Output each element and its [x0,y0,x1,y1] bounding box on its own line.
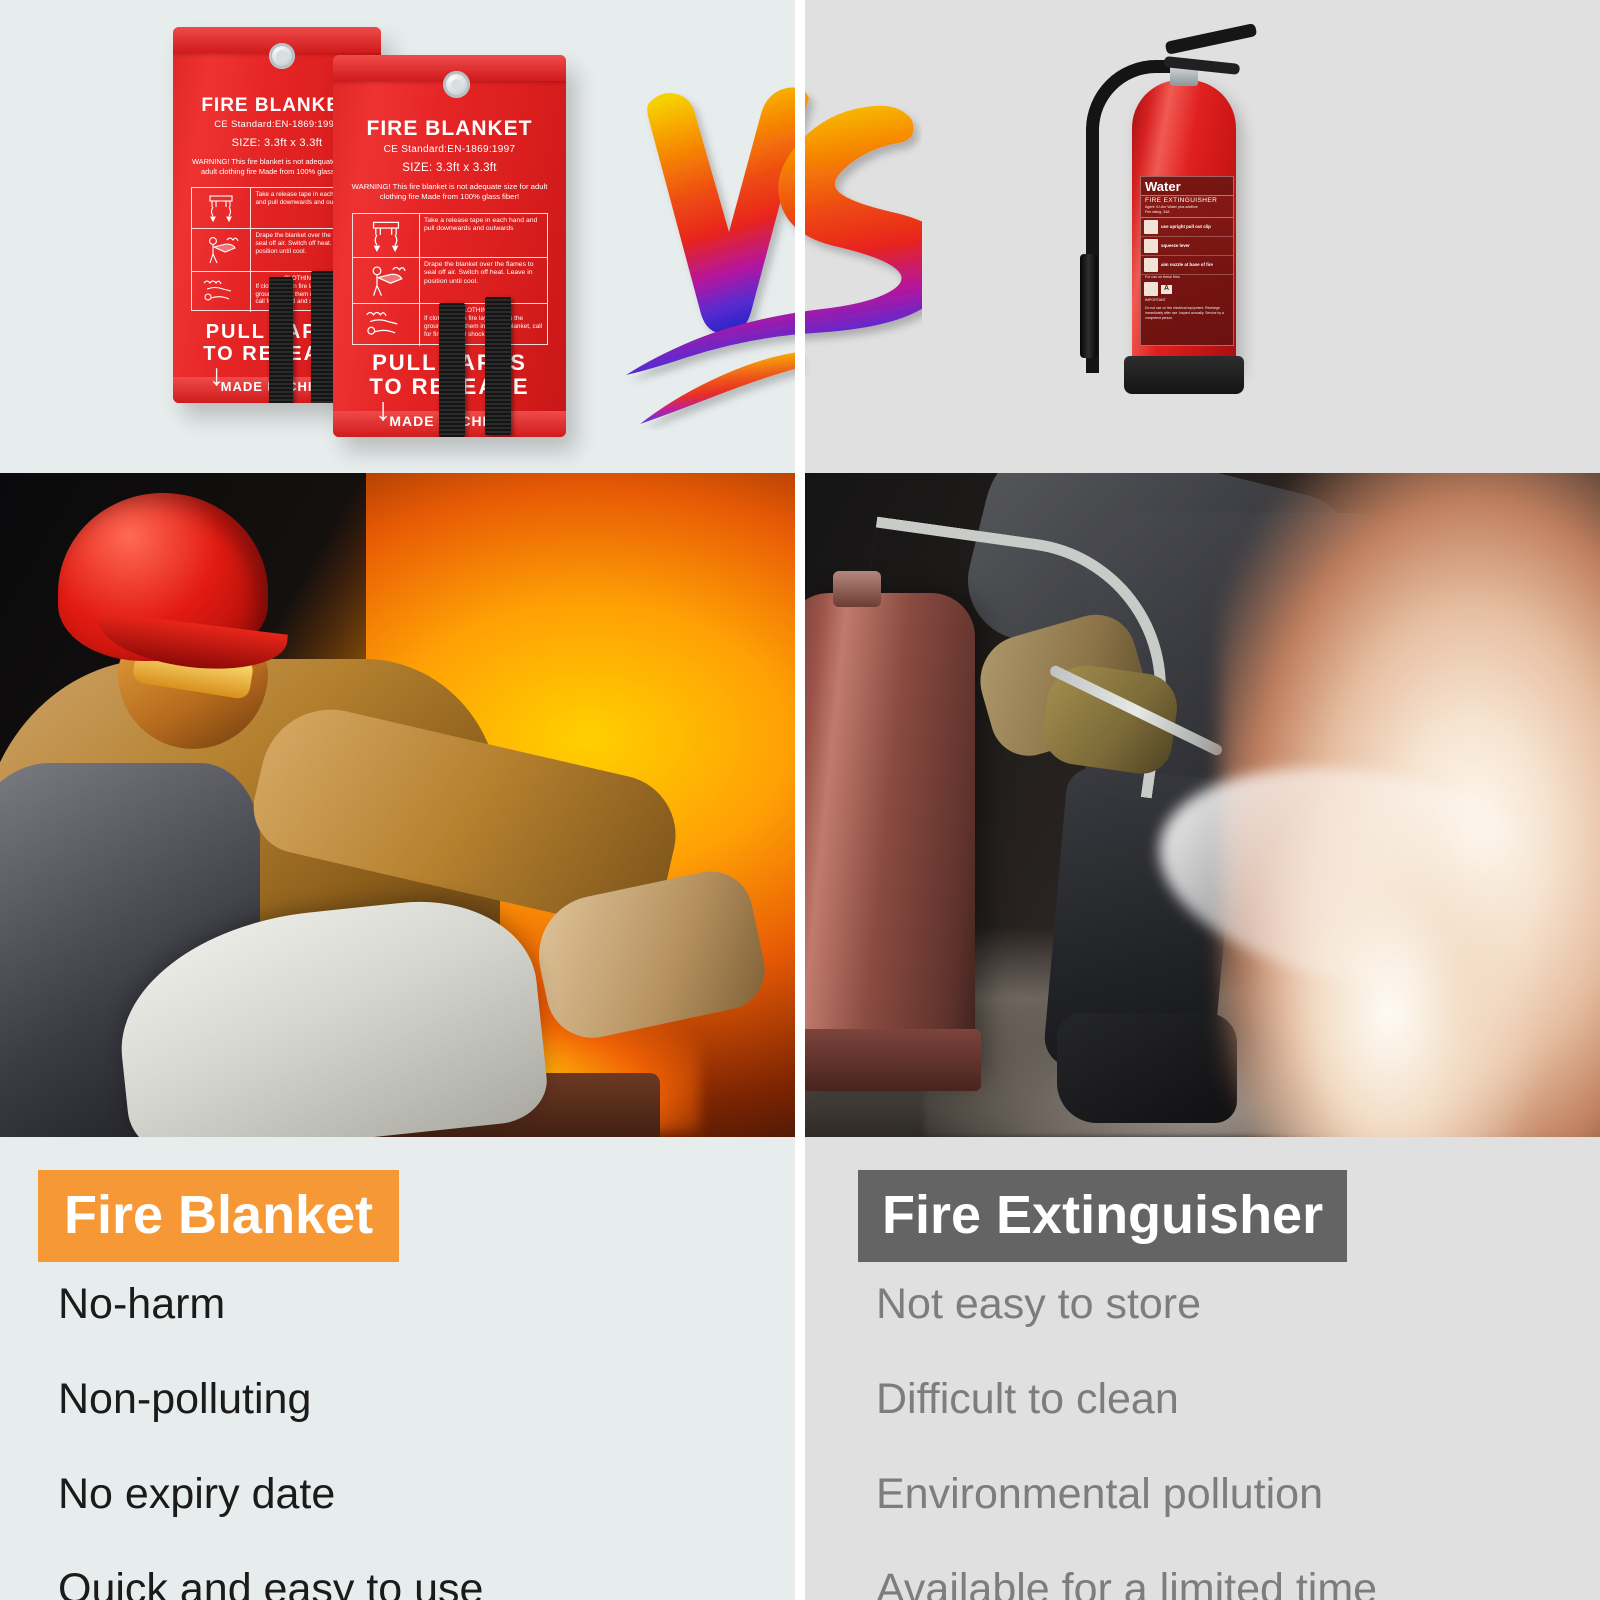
fire-blanket-heading: Fire Blanket [38,1170,399,1262]
package-size: SIZE: 3.3ft x 3.3ft [333,162,566,175]
extinguisher-step-text: squeeze lever [1161,243,1190,249]
pull-strap [311,271,335,403]
fire-blanket-photo [0,473,795,1137]
operator-boot [1057,1013,1237,1123]
package-standard: CE Standard:EN-1869:1997 [333,144,566,156]
fire-extinguisher-illustration: Water FIRE EXTINGUISHER Agent: 6 Litre W… [1078,24,1298,424]
extinguisher-class-line: For use on these fires [1141,275,1233,280]
list-item: Non-polluting [58,1378,795,1421]
pull-strap [485,297,511,435]
extinguisher-label: Water FIRE EXTINGUISHER Agent: 6 Litre W… [1140,176,1234,346]
extinguisher-class-letter: A [1161,285,1172,294]
extinguisher-step: use upright pull out clip [1141,218,1233,237]
aim-nozzle-icon [1144,258,1158,272]
clothing-fire-icon [353,304,420,346]
fire-blanket-bullet-list: No-harm Non-polluting No expiry date Qui… [0,1283,795,1600]
hang-hole-grommet [443,71,470,98]
extinguisher-step-list: use upright pull out clip squeeze lever … [1141,217,1233,275]
extinguisher-step-text: use upright pull out clip [1161,224,1211,230]
fire-extinguisher-summary: Fire Extinguisher Not easy to store Diff… [805,1137,1600,1600]
extinguisher-type-line: FIRE EXTINGUISHER [1141,195,1233,205]
extinguisher-fire-class: A [1141,280,1233,298]
squeeze-lever-icon [1144,239,1158,253]
list-item: Not easy to store [876,1283,1600,1326]
extinguisher-nozzle [1080,254,1097,358]
extinguisher-step: aim nozzle at base of fire [1141,256,1233,275]
upright-pull-clip-icon [1144,220,1158,234]
extinguisher-rating-line: Fire rating: 34A [1141,210,1233,215]
extinguisher-cylinder-base [805,1029,981,1091]
list-item: Environmental pollution [876,1473,1600,1516]
list-item: Quick and easy to use [58,1568,795,1600]
list-item: No-harm [58,1283,795,1326]
instruction-step: Drape the blanket over the flames to sea… [353,258,547,304]
fire-extinguisher-bullet-list: Not easy to store Difficult to clean Env… [805,1283,1600,1600]
class-a-pictogram-icon [1144,282,1158,296]
fire-extinguisher-photo [805,473,1600,1137]
instruction-step-text: Take a release tape in each hand and pul… [420,214,547,257]
package-warning: WARNING! This fire blanket is not adequa… [333,182,566,203]
pull-strap [439,303,465,437]
package-title: FIRE BLANKET [333,117,566,141]
instruction-step-text: Drape the blanket over the flames to sea… [420,258,547,303]
two-hands-pull-icon [192,188,251,228]
drape-blanket-icon [192,229,251,271]
hang-hole-grommet [269,43,295,69]
drape-blanket-icon [353,258,420,303]
extinguisher-base [1124,356,1244,394]
extinguisher-footer-text: Do not use on live electrical equipment.… [1141,304,1233,324]
extinguisher-step-text: aim nozzle at base of fire [1161,262,1213,268]
column-divider [795,0,805,1600]
pull-strap [269,277,293,403]
instruction-step: Take a release tape in each hand and pul… [353,214,547,258]
list-item: Difficult to clean [876,1378,1600,1421]
fire-blanket-package-2: FIRE BLANKET CE Standard:EN-1869:1997 SI… [333,55,566,437]
list-item: Available for a limited time [876,1568,1600,1600]
comparison-infographic: FIRE BLANKET CE Standard:EN-1869:1997 SI… [0,0,1600,1600]
fire-extinguisher-heading: Fire Extinguisher [858,1170,1347,1262]
list-item: No expiry date [58,1473,795,1516]
fire-blanket-summary: Fire Blanket No-harm Non-polluting No ex… [0,1137,795,1600]
clothing-fire-icon [192,272,251,312]
extinguisher-step: squeeze lever [1141,237,1233,256]
extinguisher-lever [1165,23,1258,55]
two-hands-pull-icon [353,214,420,257]
versus-graphic [612,60,922,430]
extinguisher-agent-name: Water [1141,177,1233,195]
